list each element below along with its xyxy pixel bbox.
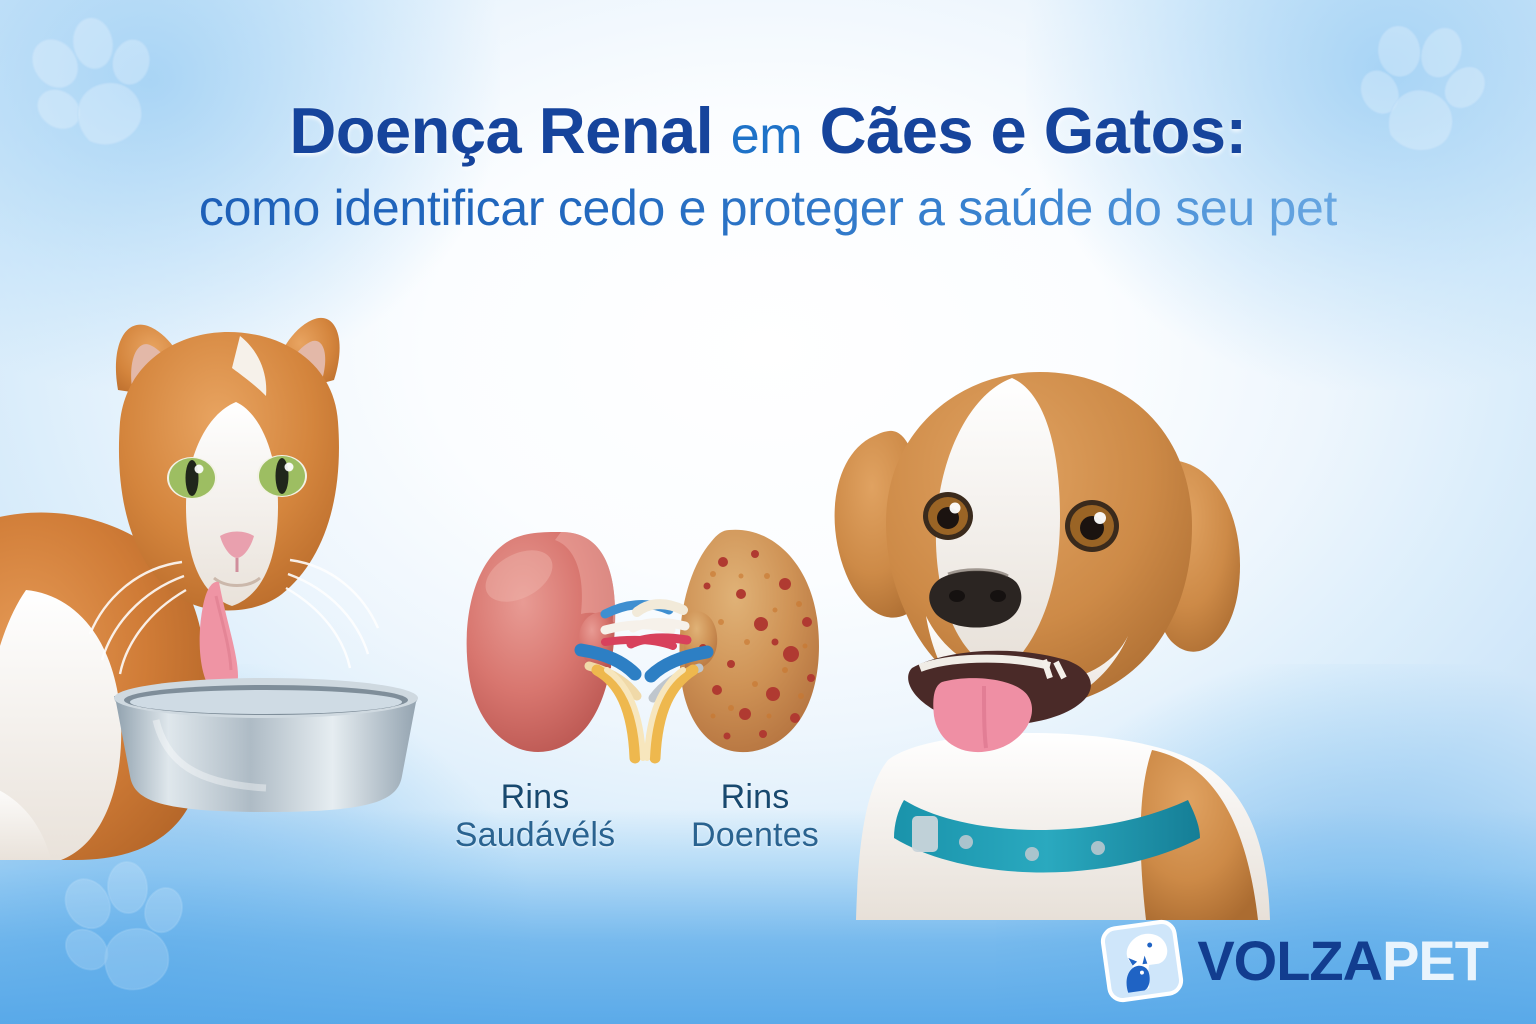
diseased-kidney-label-line2: Doentes [660,816,850,854]
cat-drinking-illustration [0,300,486,860]
poster-canvas: Doença Renal em Cães e Gatos: como ident… [0,0,1536,1024]
page-subtitle: como identificar cedo e proteger a saúde… [0,179,1536,237]
healthy-kidney [467,532,673,758]
brand-wordmark: VOLZAPET [1197,933,1488,989]
diseased-kidney-label-line1: Rins [660,778,850,816]
healthy-kidney-label-line2: Saudávélś [440,816,630,854]
diseased-kidney-label: Rins Doentes [660,778,850,854]
title-part-3: Cães e Gatos: [820,94,1247,167]
title-part-2: em [731,107,802,165]
brand-name-volza: VOLZA [1197,929,1382,992]
brand-name-pet: PET [1382,929,1488,992]
heading-block: Doença Renal em Cães e Gatos: como ident… [0,98,1536,237]
healthy-kidney-label-line1: Rins [440,778,630,816]
page-title: Doença Renal em Cães e Gatos: [0,98,1536,165]
brand-logo[interactable]: VOLZAPET [1101,920,1488,1002]
title-part-1: Doença Renal [289,94,713,167]
kidney-comparison-illustration [455,518,835,773]
dog-and-cat-badge-icon [1096,915,1189,1008]
dog-portrait-illustration [816,330,1286,920]
healthy-kidney-label: Rins Saudávélś [440,778,630,854]
kidney-labels: Rins Saudávélś Rins Doentes [440,778,850,854]
